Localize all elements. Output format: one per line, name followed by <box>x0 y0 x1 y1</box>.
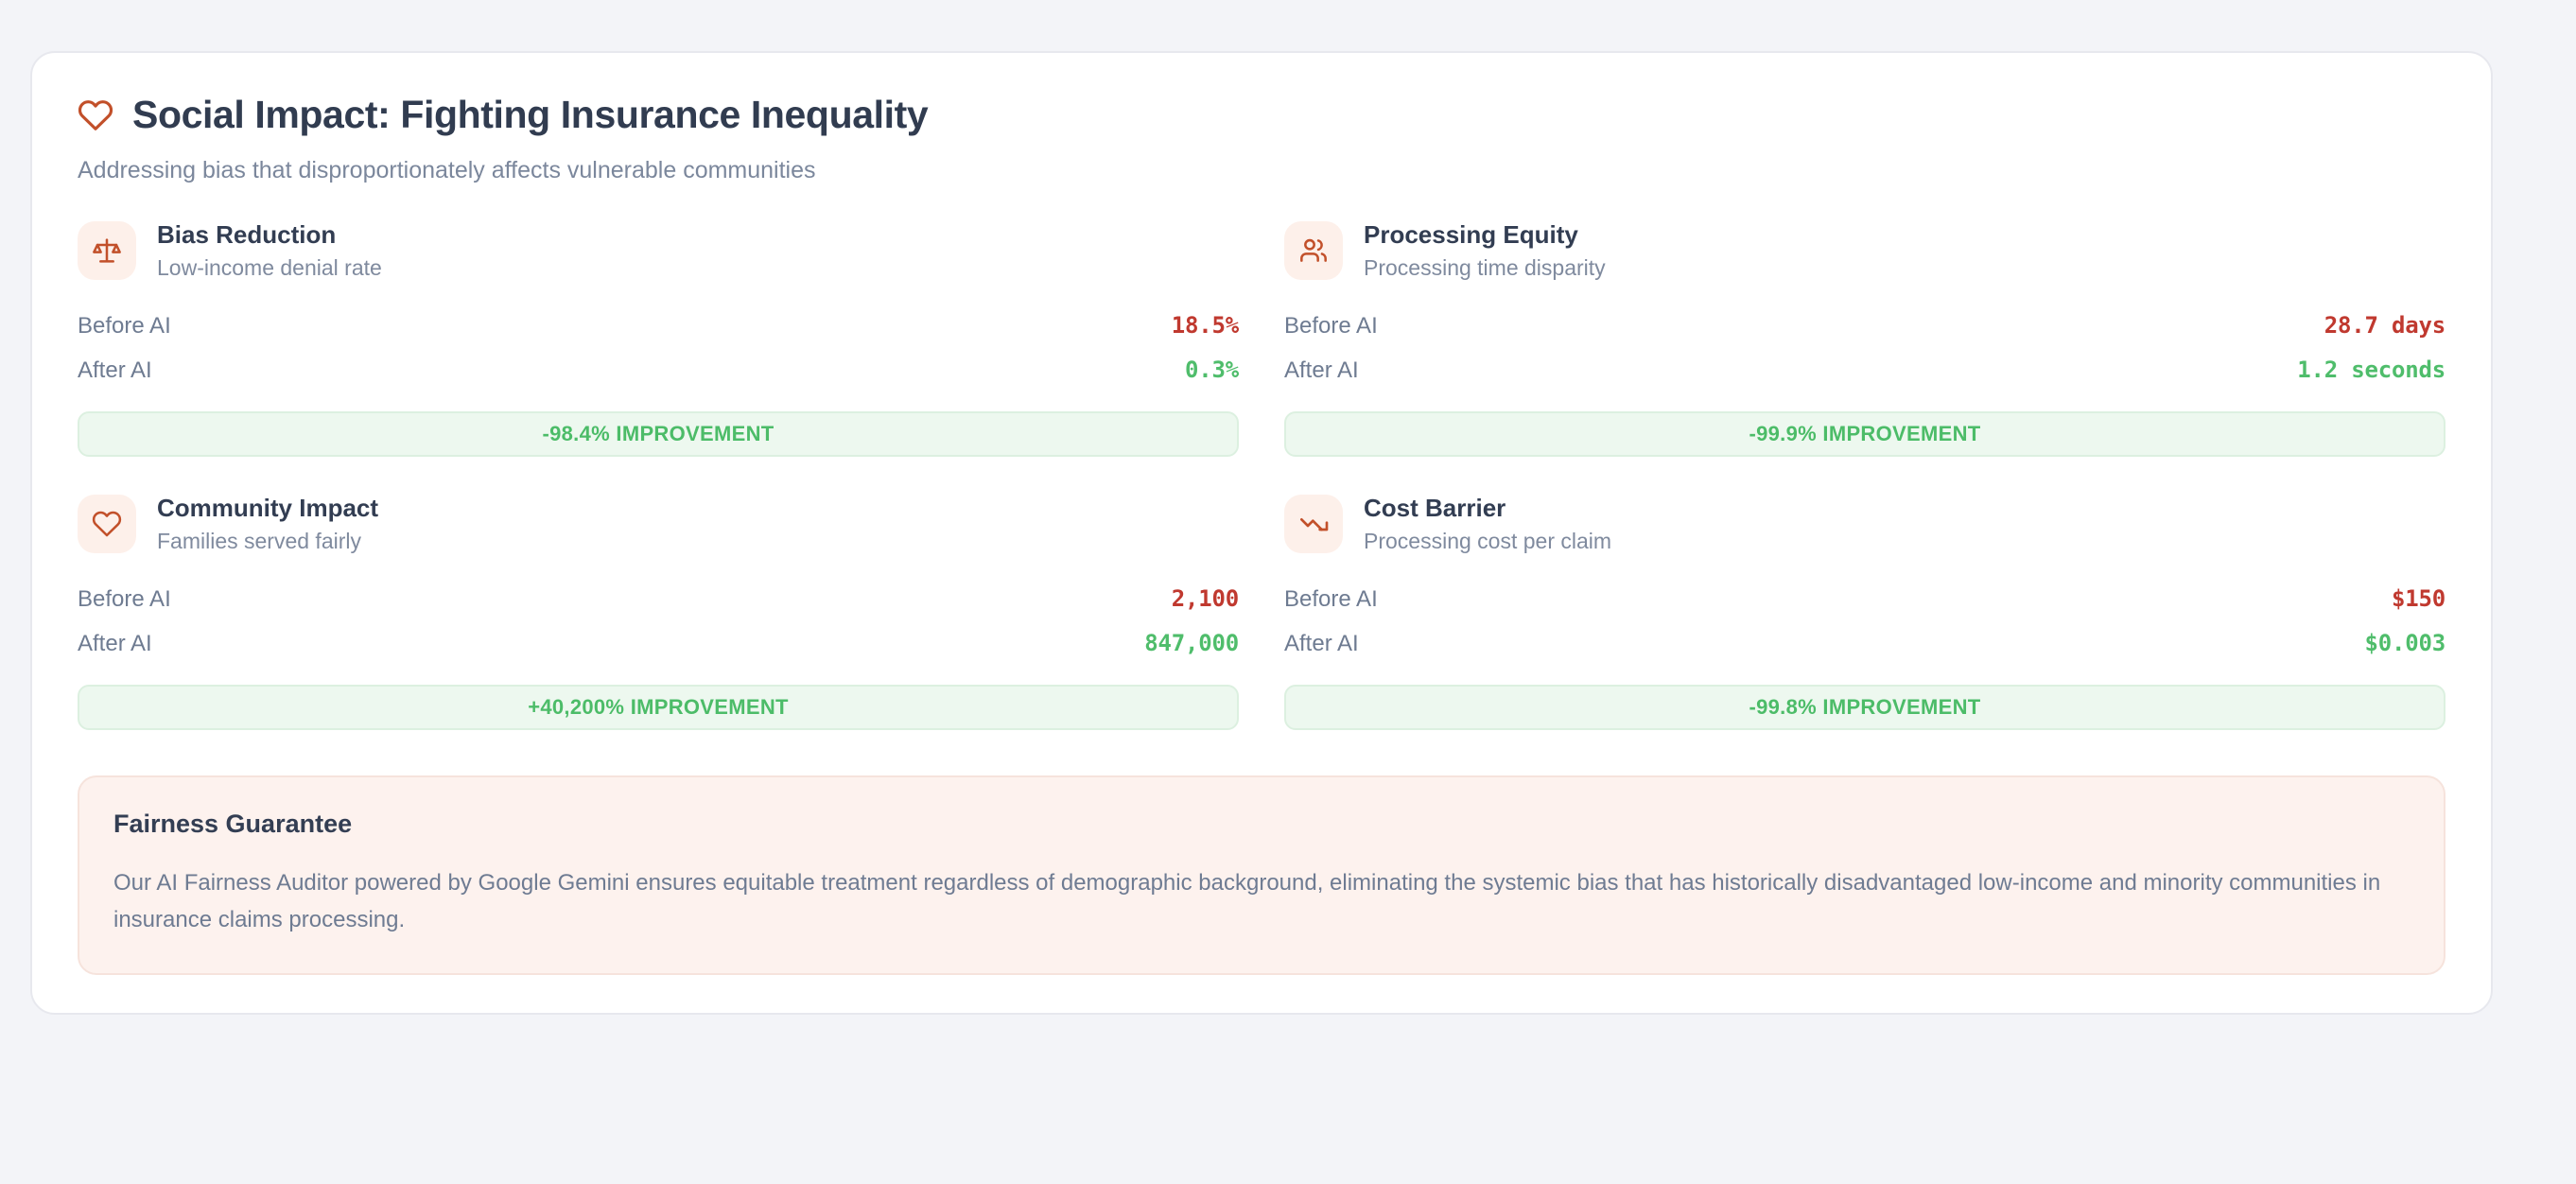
metric-row-after: After AI 0.3% <box>78 348 1239 393</box>
metric-row-before: Before AI 2,100 <box>78 577 1239 622</box>
panel-header: Social Impact: Fighting Insurance Inequa… <box>78 95 2445 185</box>
improvement-text: +40,200% IMPROVEMENT <box>528 695 789 720</box>
improvement-badge: -99.9% IMPROVEMENT <box>1284 411 2445 457</box>
icon-tile <box>78 221 136 280</box>
scales-icon <box>92 235 122 266</box>
metric-sublabel: Processing cost per claim <box>1364 529 1611 553</box>
row-label-after: After AI <box>1284 357 1359 385</box>
row-value-after: $0.003 <box>2365 630 2446 657</box>
metric-card-processing-equity: Processing Equity Processing time dispar… <box>1284 221 2445 457</box>
users-icon <box>1298 235 1329 266</box>
metric-row-after: After AI 1.2 seconds <box>1284 348 2445 393</box>
trending-down-icon <box>1298 509 1329 539</box>
improvement-text: -99.9% IMPROVEMENT <box>1749 422 1980 446</box>
metric-row-before: Before AI 18.5% <box>78 304 1239 349</box>
metric-label: Community Impact <box>157 495 378 523</box>
metrics-grid: Bias Reduction Low-income denial rate Be… <box>78 221 2445 730</box>
icon-tile <box>78 495 136 553</box>
metric-rows: Before AI 2,100 After AI 847,000 <box>78 577 1239 668</box>
metric-card-bias-reduction: Bias Reduction Low-income denial rate Be… <box>78 221 1239 457</box>
improvement-text: -99.8% IMPROVEMENT <box>1749 695 1980 720</box>
metric-header: Processing Equity Processing time dispar… <box>1284 221 2445 280</box>
metric-card-community-impact: Community Impact Families served fairly … <box>78 495 1239 730</box>
metric-row-after: After AI 847,000 <box>78 621 1239 667</box>
fairness-title: Fairness Guarantee <box>113 810 2410 839</box>
metric-sublabel: Families served fairly <box>157 529 378 553</box>
improvement-badge: -98.4% IMPROVEMENT <box>78 411 1239 457</box>
metric-rows: Before AI $150 After AI $0.003 <box>1284 577 2445 668</box>
metric-titles: Community Impact Families served fairly <box>157 495 378 553</box>
row-label-before: Before AI <box>1284 586 1378 614</box>
row-value-before: $150 <box>2392 585 2445 613</box>
row-label-after: After AI <box>78 357 152 385</box>
page-root: Social Impact: Fighting Insurance Inequa… <box>0 0 2576 1184</box>
row-value-before: 18.5% <box>1172 312 1239 340</box>
row-value-before: 28.7 days <box>2324 312 2445 340</box>
improvement-badge: +40,200% IMPROVEMENT <box>78 685 1239 730</box>
page-subtitle: Addressing bias that disproportionately … <box>78 156 2445 185</box>
improvement-text: -98.4% IMPROVEMENT <box>542 422 774 446</box>
icon-tile <box>1284 221 1343 280</box>
metric-label: Bias Reduction <box>157 221 382 250</box>
metric-sublabel: Processing time disparity <box>1364 255 1606 280</box>
row-label-after: After AI <box>1284 631 1359 658</box>
metric-titles: Processing Equity Processing time dispar… <box>1364 221 1606 280</box>
metric-header: Bias Reduction Low-income denial rate <box>78 221 1239 280</box>
heart-icon <box>92 509 122 539</box>
row-value-after: 847,000 <box>1144 630 1239 657</box>
icon-tile <box>1284 495 1343 553</box>
metric-header: Cost Barrier Processing cost per claim <box>1284 495 2445 553</box>
fairness-body: Our AI Fairness Auditor powered by Googl… <box>113 865 2410 939</box>
fairness-guarantee-box: Fairness Guarantee Our AI Fairness Audit… <box>78 775 2445 975</box>
metric-row-after: After AI $0.003 <box>1284 621 2445 667</box>
metric-row-before: Before AI $150 <box>1284 577 2445 622</box>
metric-label: Cost Barrier <box>1364 495 1611 523</box>
row-label-after: After AI <box>78 631 152 658</box>
page-title: Social Impact: Fighting Insurance Inequa… <box>132 95 928 135</box>
social-impact-panel: Social Impact: Fighting Insurance Inequa… <box>30 51 2493 1015</box>
metric-sublabel: Low-income denial rate <box>157 255 382 280</box>
row-value-after: 1.2 seconds <box>2297 357 2445 384</box>
metric-rows: Before AI 28.7 days After AI 1.2 seconds <box>1284 304 2445 394</box>
metric-titles: Cost Barrier Processing cost per claim <box>1364 495 1611 553</box>
row-value-after: 0.3% <box>1185 357 1239 384</box>
row-label-before: Before AI <box>78 313 171 340</box>
metric-header: Community Impact Families served fairly <box>78 495 1239 553</box>
metric-card-cost-barrier: Cost Barrier Processing cost per claim B… <box>1284 495 2445 730</box>
row-value-before: 2,100 <box>1172 585 1239 613</box>
metric-label: Processing Equity <box>1364 221 1606 250</box>
improvement-badge: -99.8% IMPROVEMENT <box>1284 685 2445 730</box>
heart-icon <box>78 97 113 133</box>
row-label-before: Before AI <box>78 586 171 614</box>
metric-row-before: Before AI 28.7 days <box>1284 304 2445 349</box>
metric-titles: Bias Reduction Low-income denial rate <box>157 221 382 280</box>
row-label-before: Before AI <box>1284 313 1378 340</box>
title-row: Social Impact: Fighting Insurance Inequa… <box>78 95 2445 135</box>
metric-rows: Before AI 18.5% After AI 0.3% <box>78 304 1239 394</box>
